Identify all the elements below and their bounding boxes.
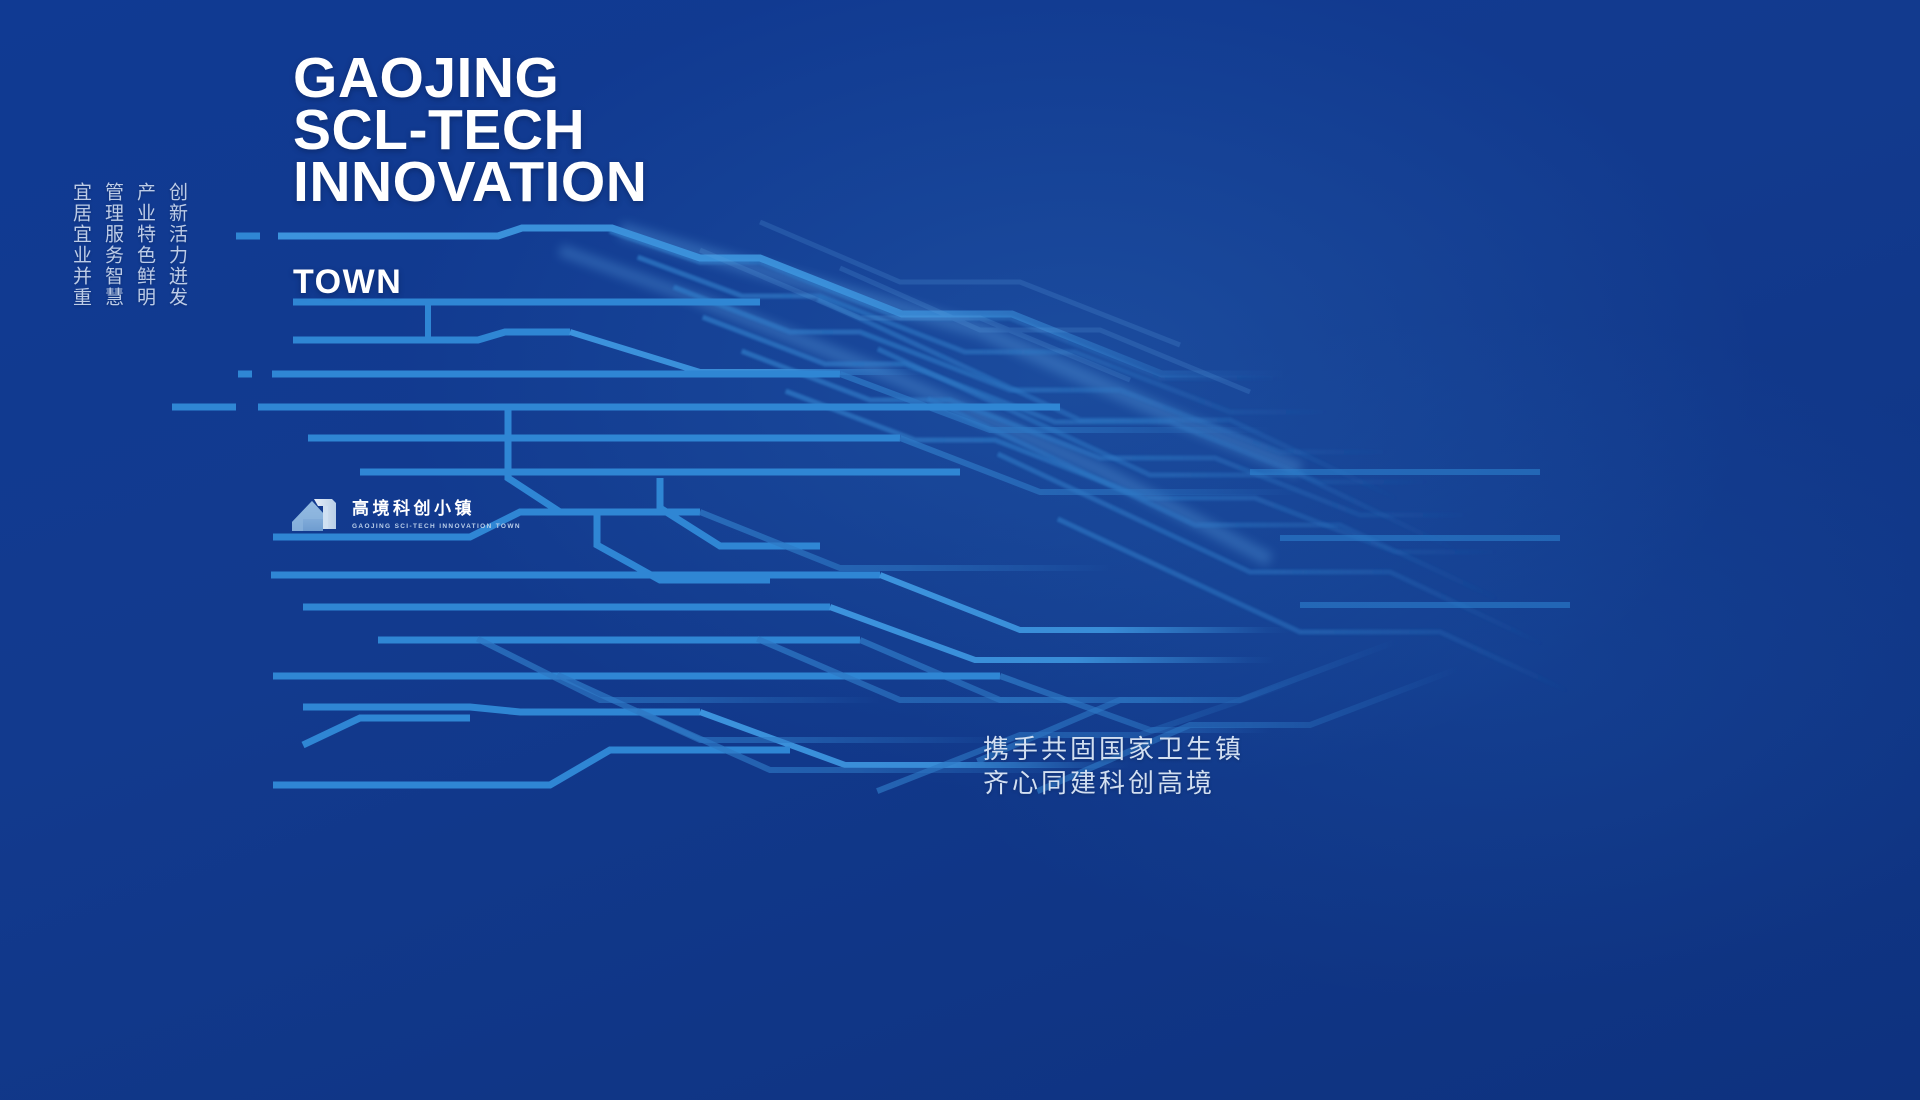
vertical-slogan-column-2: 产业特色鲜明	[132, 182, 158, 308]
title-line-1: GAOJING	[293, 52, 647, 104]
page-title: GAOJING SCL-TECH INNOVATION	[293, 52, 647, 208]
house-building-icon	[290, 495, 342, 535]
poster-canvas: GAOJING SCL-TECH INNOVATION TOWN 创新活力迸发 …	[0, 0, 1920, 1100]
bottom-slogan-line-1: 携手共固国家卫生镇	[983, 733, 1244, 767]
vertical-slogan-column-1: 创新活力迸发	[164, 182, 190, 308]
vertical-slogan-column-3: 管理服务智慧	[100, 182, 126, 308]
logo-name-cn: 高境科创小镇	[352, 499, 521, 519]
logo-text: 高境科创小镇 GAOJING SCI-TECH INNOVATION TOWN	[352, 499, 521, 532]
bottom-slogan-line-2: 齐心同建科创高境	[983, 767, 1244, 801]
circuit-line-pattern	[0, 0, 1920, 1100]
title-line-3: INNOVATION	[293, 156, 647, 208]
logo-name-en: GAOJING SCI-TECH INNOVATION TOWN	[352, 522, 521, 532]
bottom-slogan: 携手共固国家卫生镇 齐心同建科创高境	[983, 733, 1244, 801]
title-line-town: TOWN	[293, 262, 402, 302]
title-line-2: SCL-TECH	[293, 104, 647, 156]
vertical-slogan: 创新活力迸发 产业特色鲜明 管理服务智慧 宜居宜业并重	[68, 182, 190, 308]
logo-lockup: 高境科创小镇 GAOJING SCI-TECH INNOVATION TOWN	[290, 495, 521, 535]
vertical-slogan-column-4: 宜居宜业并重	[68, 182, 94, 308]
